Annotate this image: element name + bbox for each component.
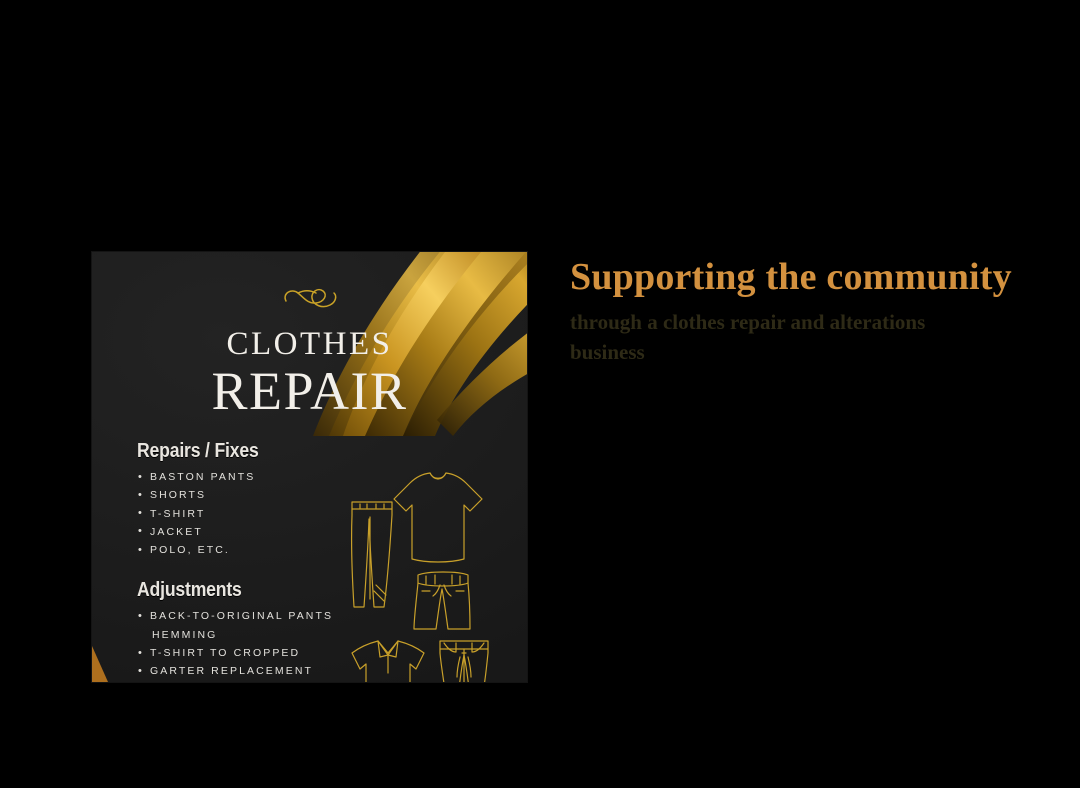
services-lists: Repairs / Fixes BASTON PANTS SHORTS T-SH…: [137, 440, 372, 682]
list-item: T-SHIRT: [137, 505, 372, 523]
list-item: T-SHIRT TO CROPPED: [137, 644, 372, 662]
list-item-label: T-SHIRT: [150, 508, 205, 520]
list-item: BACK-TO-ORIGINAL PANTS HEMMING: [137, 607, 372, 644]
list-item: POLO, ETC.: [137, 541, 372, 559]
list-item-label: JACKET: [150, 526, 203, 538]
poster-title-block: CLOTHES REPAIR: [92, 328, 527, 419]
list-item-label: BACK-TO-ORIGINAL PANTS: [150, 610, 333, 622]
list-item: SHORTS: [137, 486, 372, 504]
needle-thread-flourish-icon: [92, 284, 527, 314]
repairs-list: BASTON PANTS SHORTS T-SHIRT JACKET POLO,…: [137, 468, 372, 559]
list-item-label: T-SHIRT TO CROPPED: [150, 647, 300, 659]
section-heading-adjustments: Adjustments: [137, 579, 344, 602]
headline: Supporting the community: [570, 258, 1040, 298]
list-item-label: SHORTS: [150, 489, 206, 501]
list-item: JACKET: [137, 523, 372, 541]
list-item-label: GARTER REPLACEMENT: [150, 665, 313, 677]
list-item-label: BASTON PANTS: [150, 471, 255, 483]
list-item: GARTER REPLACEMENT: [137, 662, 372, 680]
adjustments-list: BACK-TO-ORIGINAL PANTS HEMMING T-SHIRT T…: [137, 607, 372, 682]
clothes-repair-poster: CLOTHES REPAIR Repairs / Fixes BASTON PA…: [92, 252, 527, 682]
poster-title-line2: REPAIR: [92, 363, 527, 419]
section-heading-repairs: Repairs / Fixes: [137, 440, 344, 463]
community-text-block: Supporting the community through a cloth…: [570, 258, 1040, 368]
list-item-label: POLO, ETC.: [150, 544, 230, 556]
subheadline: through a clothes repair and alterations…: [570, 308, 970, 368]
list-item: BASTON PANTS: [137, 468, 372, 486]
list-item: PATCHES: [137, 681, 372, 682]
list-item-label-continued: HEMMING: [150, 626, 372, 644]
poster-title-line1: CLOTHES: [92, 328, 527, 361]
gold-corner-triangle-icon: [92, 646, 108, 682]
